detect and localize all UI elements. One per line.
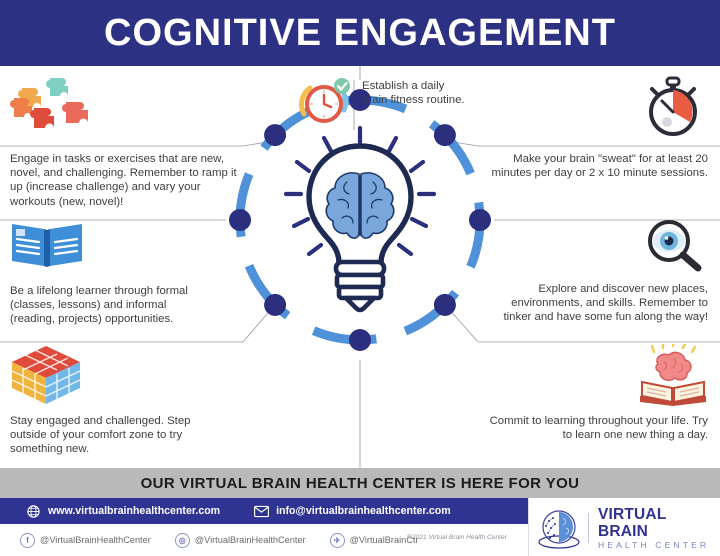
- brain-book-icon: [636, 344, 710, 406]
- rubiks-cube-icon: [8, 344, 84, 406]
- brain-logo-icon: [536, 506, 582, 550]
- contact-email[interactable]: info@virtualbrainhealthcenter.com: [254, 505, 451, 518]
- globe-icon: [26, 505, 41, 518]
- social-instagram[interactable]: ◎ @VirtualBrainHealthCenter: [175, 533, 306, 548]
- copyright-text: ©2021 Virtual Brain Health Center: [382, 534, 532, 541]
- main-canvas: Establish a daily brain fitness routine.…: [0, 66, 720, 468]
- tip-text-routine: Establish a daily brain fitness routine.: [362, 80, 472, 107]
- contact-bar: www.virtualbrainhealthcenter.com info@vi…: [0, 498, 528, 524]
- tip-text-lifelong-learner: Be a lifelong learner through formal (cl…: [10, 284, 210, 327]
- envelope-icon: [254, 505, 269, 518]
- logo-text: VIRTUAL BRAIN HEALTH CENTER: [598, 506, 714, 551]
- social-facebook-label: @VirtualBrainHealthCenter: [40, 535, 151, 545]
- call-to-action-banner: OUR VIRTUAL BRAIN HEALTH CENTER IS HERE …: [0, 468, 720, 498]
- tip-text-comfort-zone: Stay engaged and challenged. Step outsid…: [10, 414, 220, 457]
- infographic-page: COGNITIVE ENGAGEMENT: [0, 0, 720, 556]
- brand-logo: VIRTUAL BRAIN HEALTH CENTER: [536, 504, 714, 552]
- social-instagram-label: @VirtualBrainHealthCenter: [195, 535, 306, 545]
- social-facebook[interactable]: f @VirtualBrainHealthCenter: [20, 533, 151, 548]
- facebook-icon: f: [20, 533, 35, 548]
- puzzle-pieces-icon: [6, 74, 104, 136]
- logo-line-1: VIRTUAL BRAIN: [598, 506, 714, 540]
- instagram-icon: ◎: [175, 533, 190, 548]
- contact-website[interactable]: www.virtualbrainhealthcenter.com: [26, 505, 220, 518]
- clock-check-icon: [296, 76, 354, 130]
- magnifying-glass-eye-icon: [644, 216, 708, 274]
- tip-text-explore: Explore and discover new places, environ…: [490, 282, 708, 325]
- footer-divider: [528, 498, 529, 556]
- tip-text-brain-sweat: Make your brain "sweat" for at least 20 …: [490, 152, 708, 180]
- logo-divider: [588, 513, 589, 543]
- contact-email-label: info@virtualbrainhealthcenter.com: [276, 505, 451, 517]
- tip-text-novel-tasks: Engage in tasks or exercises that are ne…: [10, 152, 238, 209]
- logo-line-2: HEALTH CENTER: [598, 540, 714, 551]
- stopwatch-icon: [640, 76, 706, 138]
- page-title: COGNITIVE ENGAGEMENT: [104, 12, 616, 55]
- banner-text: OUR VIRTUAL BRAIN HEALTH CENTER IS HERE …: [141, 475, 580, 492]
- open-book-icon: [8, 218, 86, 270]
- tip-text-commit-learning: Commit to learning throughout your life.…: [486, 414, 708, 442]
- page-header: COGNITIVE ENGAGEMENT: [0, 0, 720, 66]
- contact-website-label: www.virtualbrainhealthcenter.com: [48, 505, 220, 517]
- lightbulb-brain-icon: [280, 126, 440, 316]
- center-graphic: [226, 86, 494, 354]
- twitter-icon: ✈: [330, 533, 345, 548]
